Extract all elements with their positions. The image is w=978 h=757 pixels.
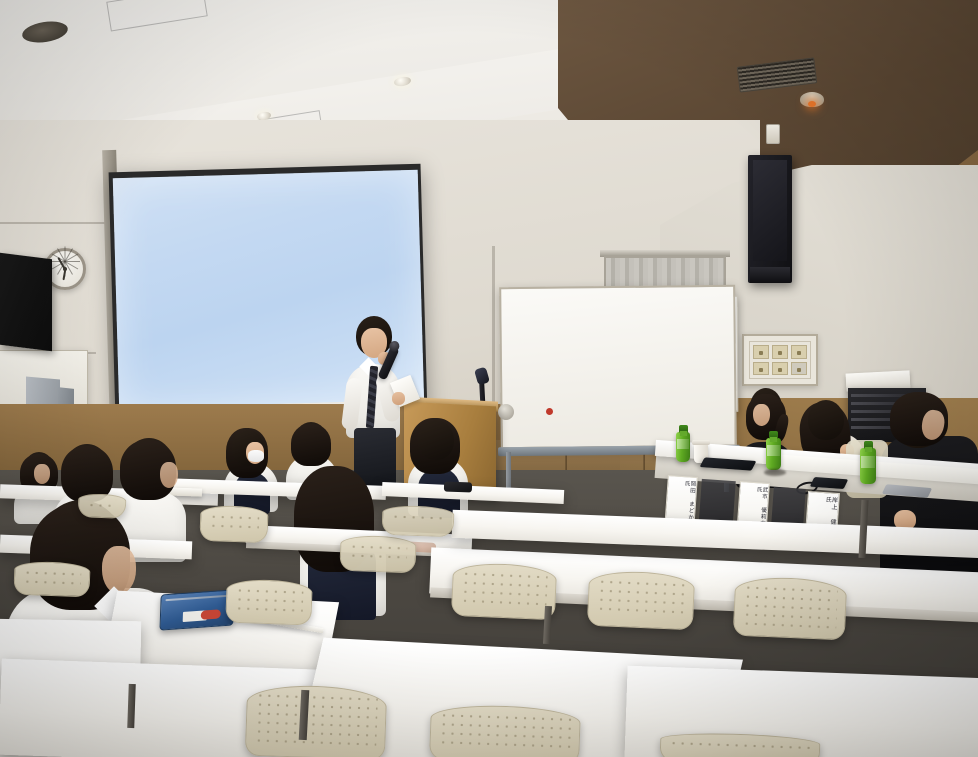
tea-bottle-2 [766,438,781,470]
student-back-2 [222,428,280,508]
chair-3 [225,579,312,626]
wall-speaker-right [748,155,792,283]
whiteboard [499,285,737,449]
desk-item-bag [444,482,472,493]
wall-knob [498,404,514,420]
bottle-shadow-2 [764,469,786,476]
face-mask [248,450,264,462]
chair-6 [733,576,848,641]
lecture-room-photo: 3:20 三菱地所設計 コンストラクションマネジメント部 コン [0,0,978,757]
spotlight-icon [800,92,824,107]
indicator-light [546,408,553,415]
chair-1 [199,505,268,543]
display-frame [742,334,818,386]
chair-10 [339,535,416,574]
tea-bottle-1 [676,432,690,462]
chair-4 [451,562,557,620]
wall-mount-bracket [766,124,780,144]
student-back-4 [404,418,472,514]
chair-2 [13,561,90,598]
wall-seam-3 [492,246,495,406]
clock-hour-hand [62,270,66,280]
wall-seam-1 [0,222,120,224]
presenter-hand-notes [392,392,405,405]
chair-5 [587,570,695,631]
wall-speaker-left [0,253,52,351]
chair-8 [429,703,581,757]
chair-7 [245,684,387,757]
pencil-case [159,589,234,630]
chair-12 [78,493,127,519]
tea-bottle-3 [860,448,876,484]
chair-11 [381,505,454,537]
